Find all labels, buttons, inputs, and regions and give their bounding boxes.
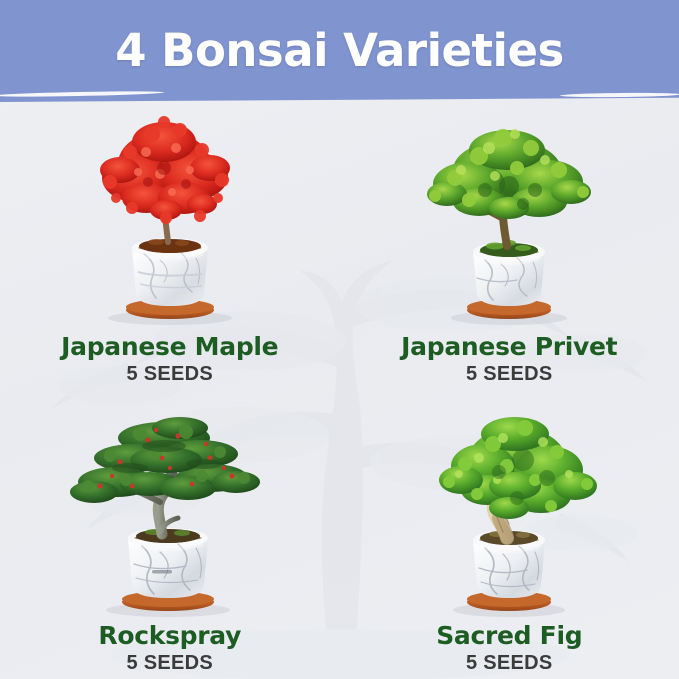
caption-japanese-maple: Japanese Maple 5 SEEDS [61,334,278,384]
product-card-rockspray[interactable]: Rockspray 5 SEEDS [0,390,340,679]
product-seed-count: 5 SEEDS [98,653,241,673]
product-grid: Japanese Maple 5 SEEDS [0,100,679,679]
product-card-japanese-privet[interactable]: Japanese Privet 5 SEEDS [340,100,679,390]
product-seed-count: 5 SEEDS [436,653,582,673]
bonsai-japanese-privet-icon [399,112,619,330]
product-seed-count: 5 SEEDS [401,364,617,384]
product-name: Japanese Maple [61,334,278,359]
caption-sacred-fig: Sacred Fig 5 SEEDS [436,623,582,673]
bonsai-varieties-poster: 4 Bonsai Varieties [0,0,679,679]
bonsai-rockspray-icon [60,414,280,619]
product-card-japanese-maple[interactable]: Japanese Maple 5 SEEDS [0,100,340,390]
page-title: 4 Bonsai Varieties [0,0,679,100]
bonsai-sacred-fig-icon [399,414,619,619]
product-card-sacred-fig[interactable]: Sacred Fig 5 SEEDS [340,390,679,679]
product-name: Rockspray [98,623,241,648]
bonsai-japanese-maple-icon [60,112,280,330]
product-name: Japanese Privet [401,334,617,359]
product-seed-count: 5 SEEDS [61,364,278,384]
caption-rockspray: Rockspray 5 SEEDS [98,623,241,673]
caption-japanese-privet: Japanese Privet 5 SEEDS [401,334,617,384]
product-name: Sacred Fig [436,623,582,648]
